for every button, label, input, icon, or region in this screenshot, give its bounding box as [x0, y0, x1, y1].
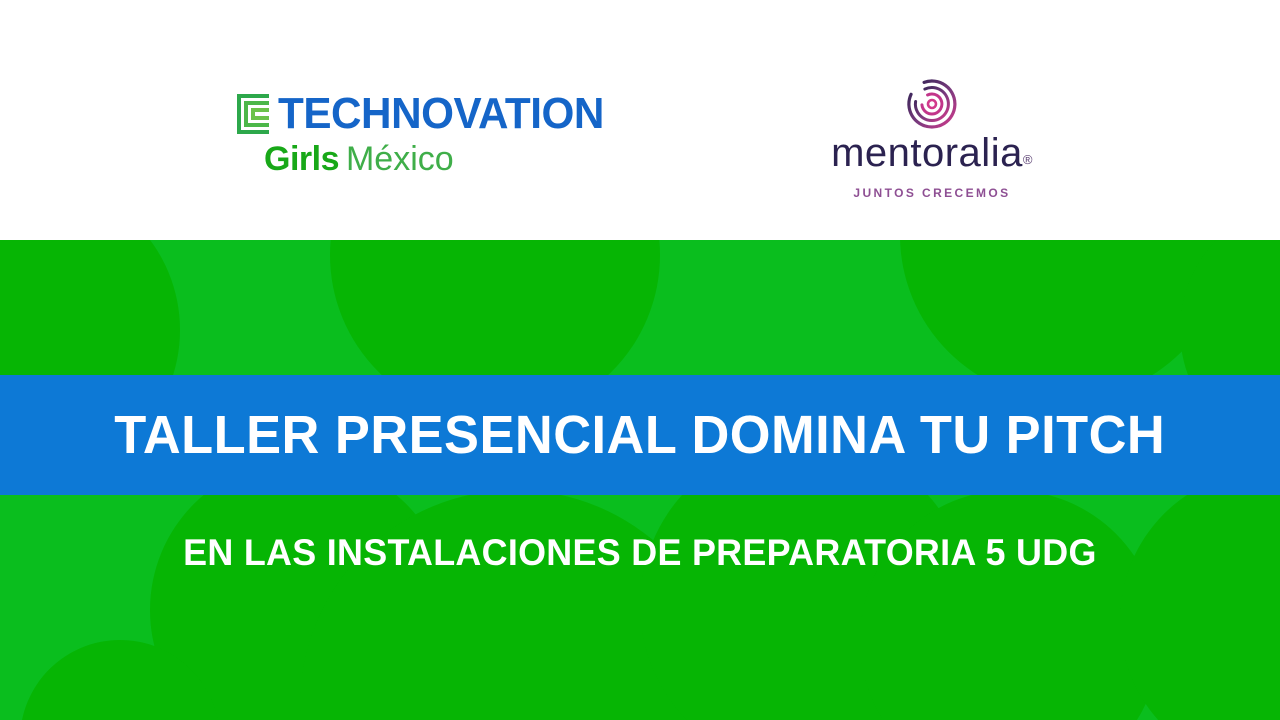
background-blob [1120, 470, 1280, 720]
technovation-spiral-mark-icon [232, 93, 272, 135]
mentoralia-spiral-rings-mark-icon [906, 78, 958, 130]
technovation-wordmark: TECHNOVATION [278, 92, 604, 136]
subtitle-container: EN LAS INSTALACIONES DE PREPARATORIA 5 U… [0, 520, 1280, 586]
banner-subtitle: EN LAS INSTALACIONES DE PREPARATORIA 5 U… [183, 532, 1097, 574]
technovation-mexico-text: México [346, 142, 454, 176]
technovation-subtitle-row: Girls México [264, 142, 454, 176]
banner-title: TALLER PRESENCIAL DOMINA TU PITCH [114, 406, 1165, 464]
poster-canvas: TECHNOVATION Girls México [0, 0, 1280, 720]
technovation-girls-text: Girls [264, 142, 339, 176]
mentoralia-wordmark: mentoralia® [831, 132, 1033, 183]
mentoralia-wordmark-text: mentoralia [831, 131, 1023, 175]
mentoralia-logo: mentoralia® JUNTOS CRECEMOS [812, 78, 1052, 200]
logo-header: TECHNOVATION Girls México [0, 0, 1280, 240]
mentoralia-tagline: JUNTOS CRECEMOS [853, 186, 1010, 200]
technovation-girls-mexico-logo: TECHNOVATION Girls México [232, 92, 617, 176]
registered-trademark-icon: ® [1023, 152, 1033, 167]
title-bar: TALLER PRESENCIAL DOMINA TU PITCH [0, 375, 1280, 495]
technovation-wordmark-row: TECHNOVATION [232, 92, 617, 136]
